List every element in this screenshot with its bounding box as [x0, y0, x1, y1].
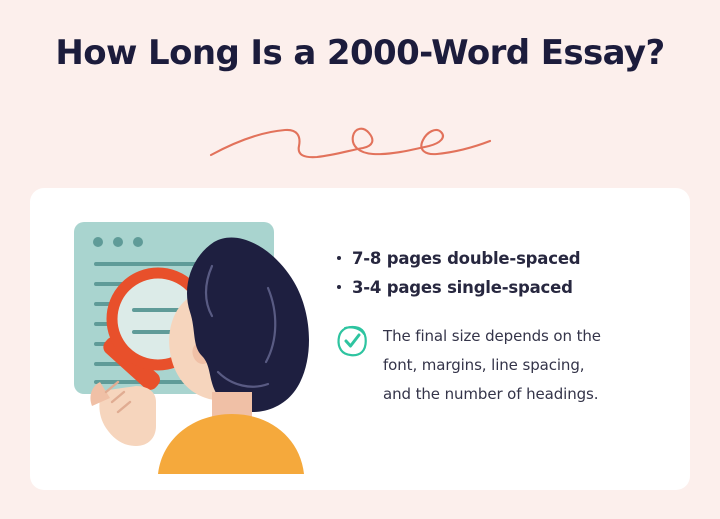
list-item: 7-8 pages double-spaced — [335, 244, 675, 273]
note-text: The final size depends on the font, marg… — [383, 322, 601, 409]
list-item: 3-4 pages single-spaced — [335, 273, 675, 302]
content-card: 7-8 pages double-spaced 3-4 pages single… — [30, 188, 690, 490]
page-count-list: 7-8 pages double-spaced 3-4 pages single… — [335, 244, 675, 302]
hand-drawn-squiggle-icon — [205, 108, 495, 170]
check-circle-icon — [335, 324, 369, 358]
note-line: font, margins, line spacing, — [383, 351, 601, 380]
text-content: 7-8 pages double-spaced 3-4 pages single… — [335, 244, 675, 409]
note-block: The final size depends on the font, marg… — [335, 322, 675, 409]
note-line: and the number of headings. — [383, 380, 601, 409]
shirt-icon — [158, 414, 304, 474]
note-line: The final size depends on the — [383, 322, 601, 351]
page-title: How Long Is a 2000-Word Essay? — [0, 33, 720, 73]
person-with-magnifying-glass-illustration — [62, 206, 342, 474]
infographic-page: How Long Is a 2000-Word Essay? — [0, 0, 720, 519]
